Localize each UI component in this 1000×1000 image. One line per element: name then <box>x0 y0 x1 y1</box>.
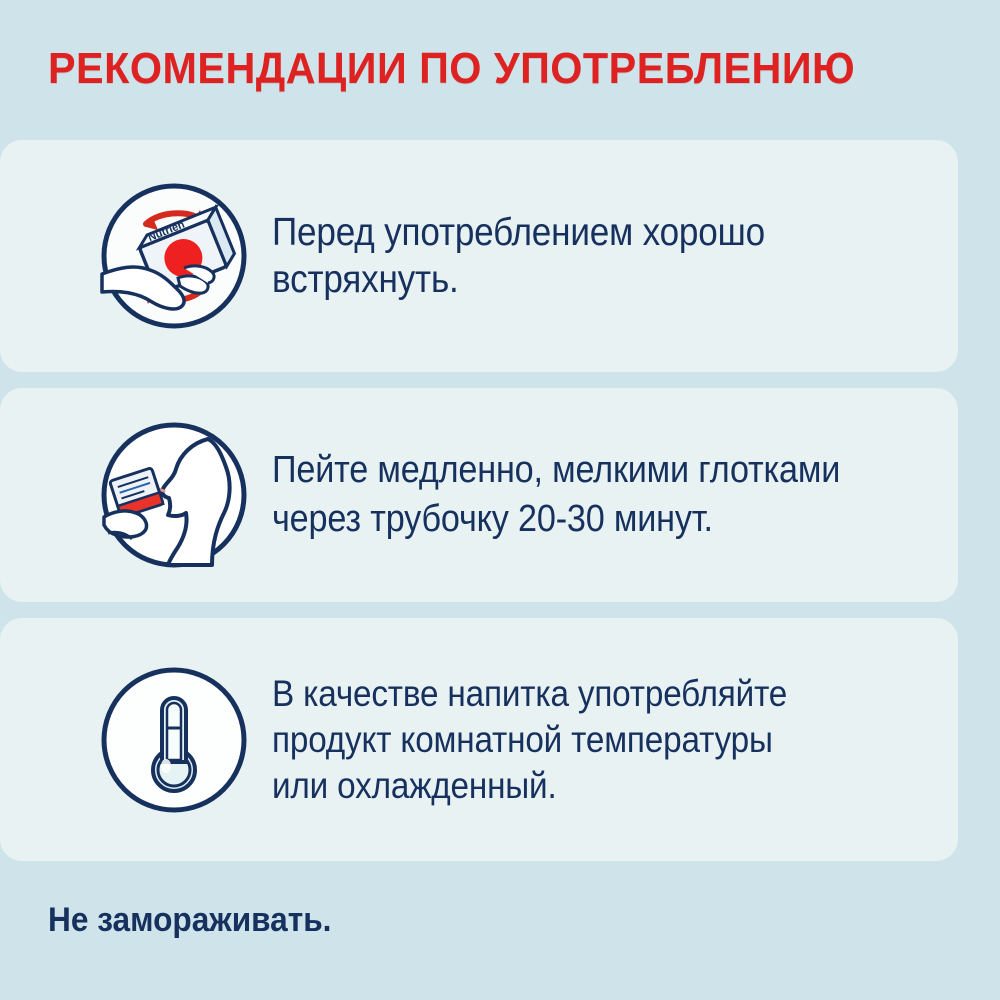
recommendation-text: В качестве напитка употребляйте продукт … <box>272 671 787 809</box>
recommendation-text: Пейте медленно, мелкими глотками через т… <box>272 446 840 544</box>
do-not-freeze-note: Не замораживать. <box>48 900 331 940</box>
recommendation-card-shake: Nutrien Перед употреблением хорошо встря… <box>0 140 958 372</box>
icon-container: Nutrien <box>94 182 254 330</box>
recommendation-card-drink: Пейте медленно, мелкими глотками через т… <box>0 388 958 602</box>
recommendation-card-temperature: В качестве напитка употребляйте продукт … <box>0 618 958 861</box>
page-title: РЕКОМЕНДАЦИИ ПО УПОТРЕБЛЕНИЮ <box>48 44 855 94</box>
thermometer-icon <box>100 666 248 814</box>
icon-container <box>94 421 254 569</box>
icon-container <box>94 666 254 814</box>
recommendation-text: Перед употреблением хорошо встряхнуть. <box>272 209 889 303</box>
drink-through-straw-icon <box>100 421 248 569</box>
recommendations-list: Nutrien Перед употреблением хорошо встря… <box>0 140 958 861</box>
shake-package-icon: Nutrien <box>100 182 248 330</box>
